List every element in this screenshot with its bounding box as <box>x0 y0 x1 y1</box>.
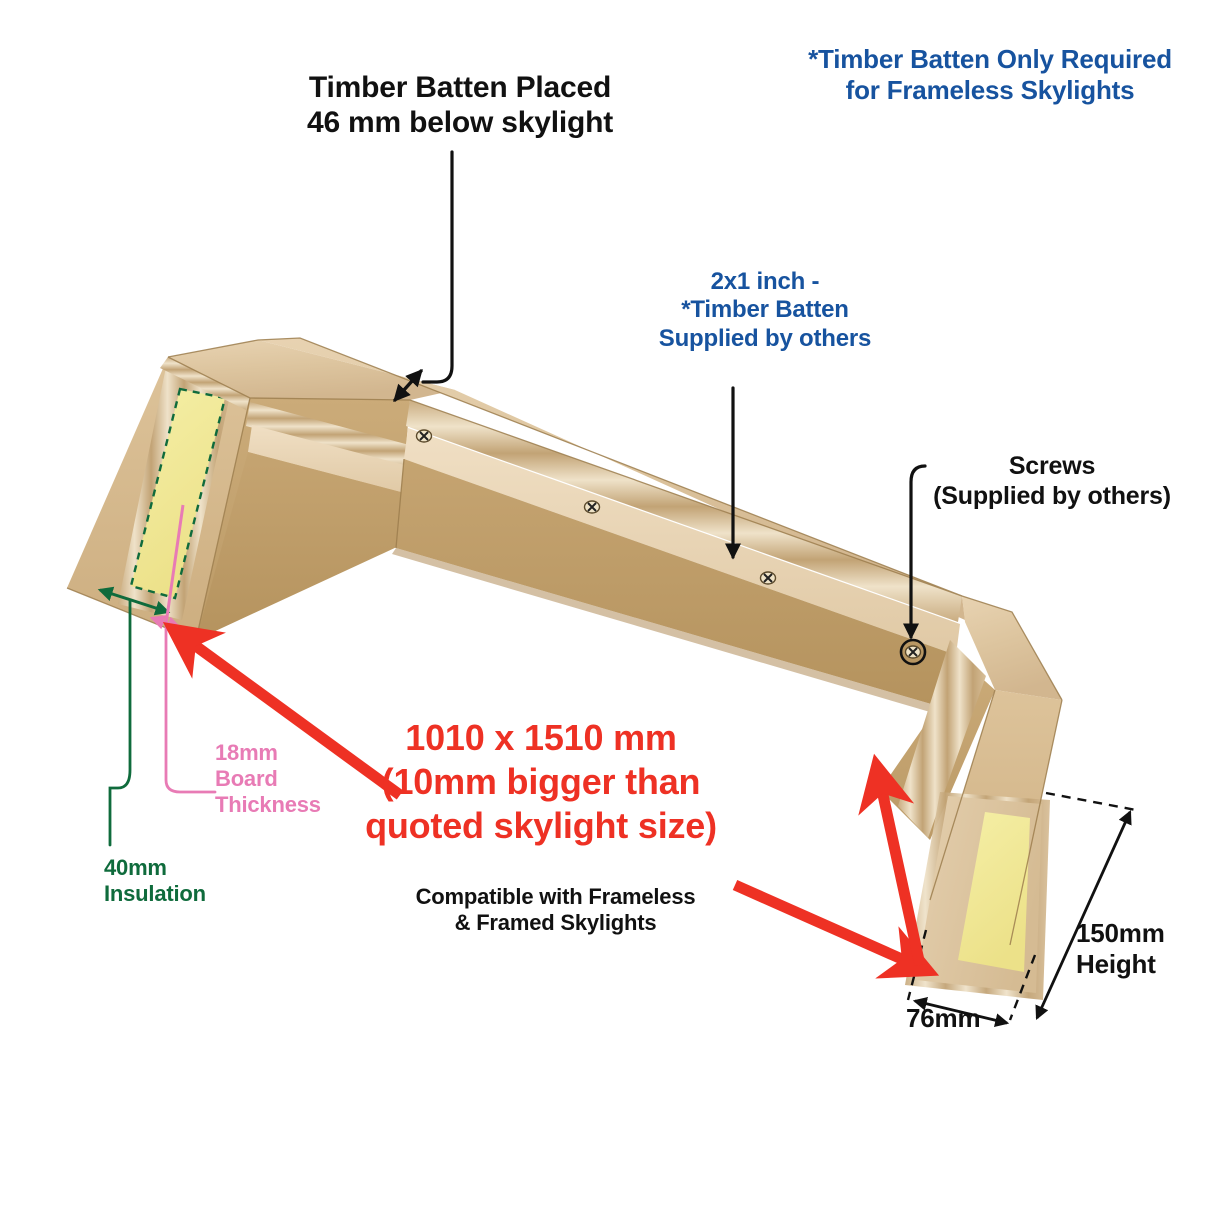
label-board-thickness: 18mm Board Thickness <box>215 740 335 818</box>
leader-batten-placed <box>423 152 452 382</box>
screw-head-3 <box>761 572 776 584</box>
label-compatibility: Compatible with Frameless & Framed Skyli… <box>378 884 733 936</box>
upstand-kerb-illustration <box>0 0 1214 1214</box>
label-timber-batten-placed: Timber Batten Placed 46 mm below skyligh… <box>235 70 685 141</box>
ext-line-height-top <box>1046 793 1136 810</box>
diagram-canvas: Timber Batten Placed 46 mm below skyligh… <box>0 0 1214 1214</box>
leader-40mm-insulation <box>110 600 130 845</box>
label-frameless-note: *Timber Batten Only Required for Framele… <box>770 44 1210 105</box>
label-depth-dimension: 76mm <box>906 1003 1016 1034</box>
screw-head-2 <box>585 501 600 513</box>
label-screws: Screws (Supplied by others) <box>890 452 1214 511</box>
label-opening-size: 1010 x 1510 mm (10mm bigger than quoted … <box>316 716 766 848</box>
red-arrow-to-right-corner <box>735 885 922 968</box>
dim-150mm-height <box>1037 812 1130 1018</box>
screw-head-1 <box>417 430 432 442</box>
label-insulation: 40mm Insulation <box>104 855 264 907</box>
label-batten-spec: 2x1 inch - *Timber Batten Supplied by ot… <box>620 268 910 353</box>
label-height-dimension: 150mm Height <box>1076 918 1206 979</box>
